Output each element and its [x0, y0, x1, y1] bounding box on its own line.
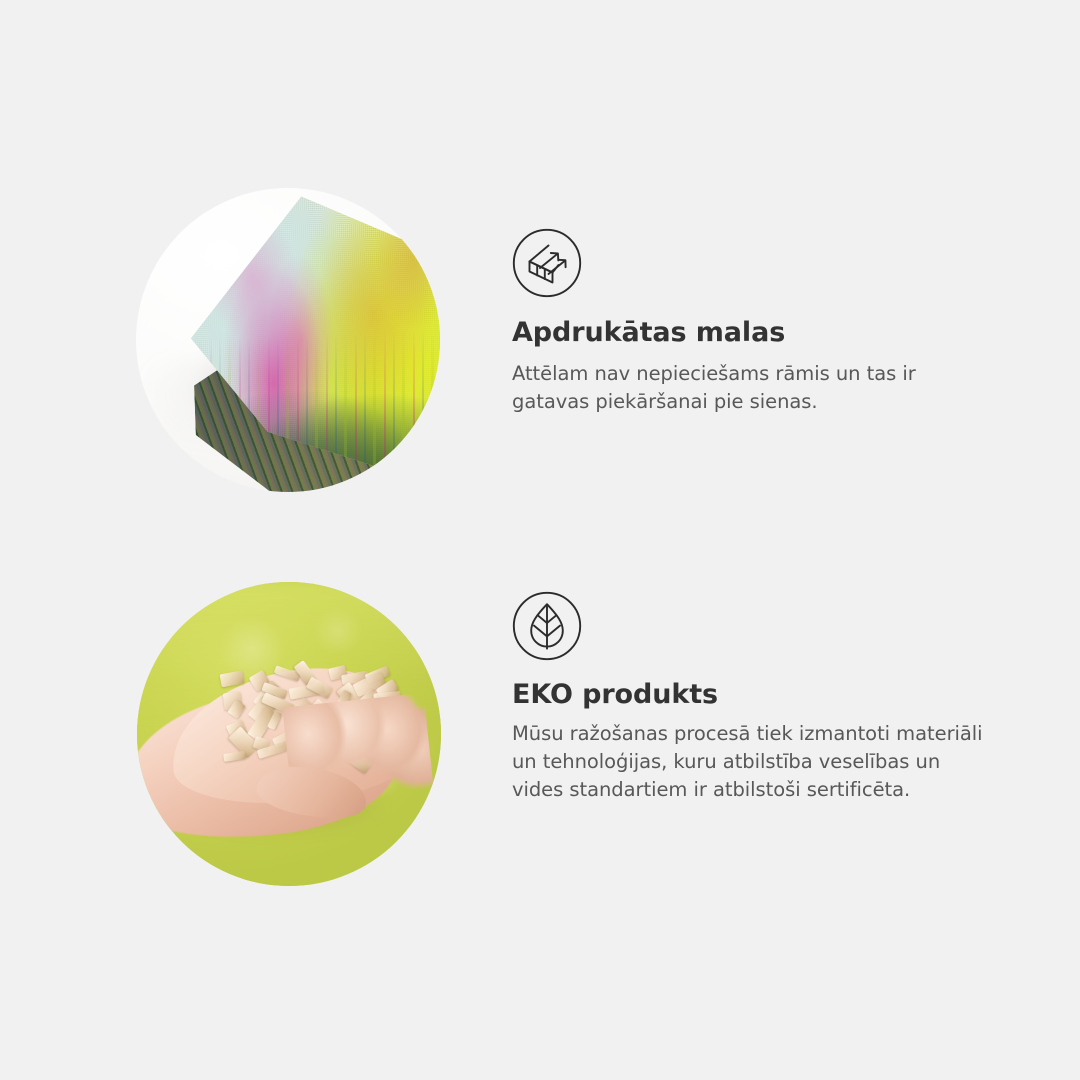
- feature-block-printed-edges: Apdrukātas malas Attēlam nav nepieciešam…: [0, 170, 1080, 520]
- wood-chip: [306, 677, 334, 700]
- wood-chips-hands-photo: [137, 582, 441, 886]
- wood-chip: [223, 750, 246, 761]
- feature-title: EKO produkts: [512, 679, 1012, 711]
- feature-title: Apdrukātas malas: [512, 317, 1012, 349]
- grass-background: [137, 582, 441, 886]
- canvas-photo-background: [136, 188, 440, 492]
- canvas-corner-photo: [136, 188, 440, 492]
- feature-description: Mūsu ražošanas procesā tiek izmantoti ma…: [512, 720, 994, 803]
- leaf-icon: [512, 591, 582, 661]
- wood-chip: [219, 671, 244, 688]
- feature-block-eco-product: EKO produkts Mūsu ražošanas procesā tiek…: [0, 563, 1080, 903]
- feature-description: Attēlam nav nepieciešams rāmis un tas ir…: [512, 360, 994, 415]
- feature-infographic: Apdrukātas malas Attēlam nav nepieciešam…: [0, 0, 1080, 1080]
- printed-edges-icon: [512, 228, 582, 298]
- feature-text-printed-edges: Apdrukātas malas Attēlam nav nepieciešam…: [512, 228, 1012, 416]
- feature-text-eco-product: EKO produkts Mūsu ražošanas procesā tiek…: [512, 591, 1012, 803]
